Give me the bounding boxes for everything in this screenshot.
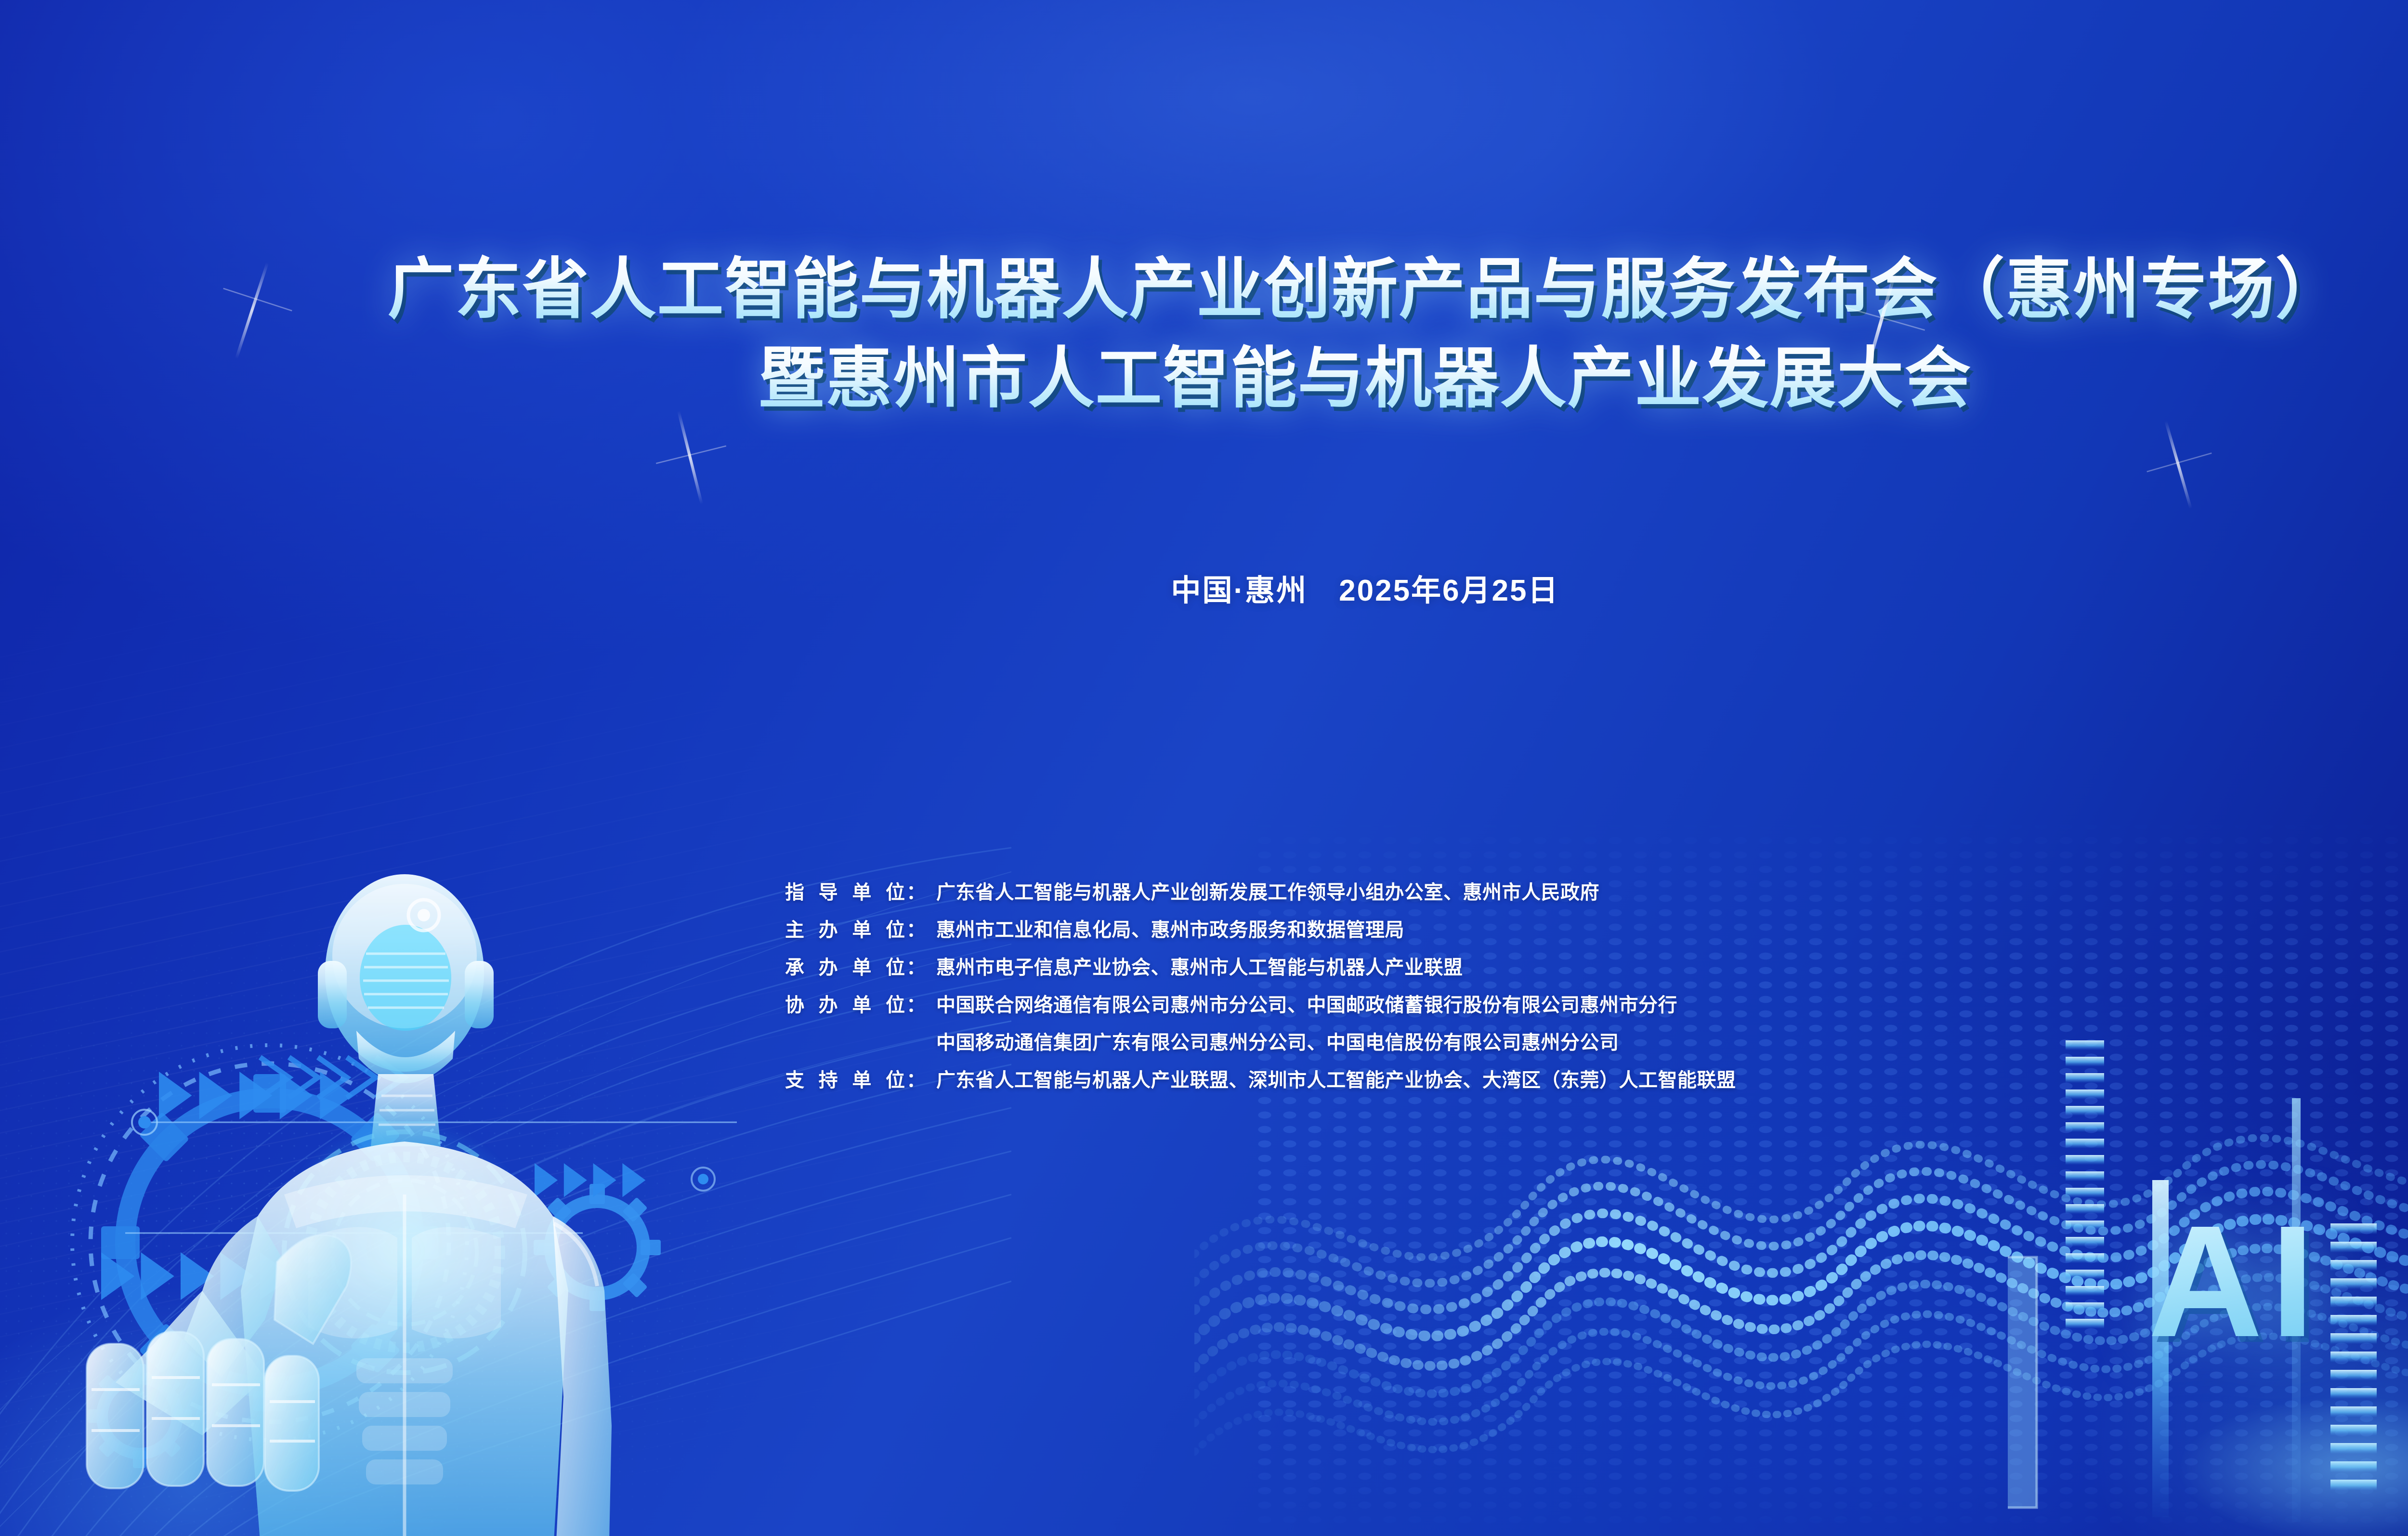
ai-logo: AI — [2148, 1190, 2322, 1373]
humanoid-robot-figure — [58, 857, 742, 1536]
organizer-row-continuation: 协办单位 ： 中国移动通信集团广东有限公司惠州分公司、中国电信股份有限公司惠州分… — [785, 1027, 2326, 1055]
organizer-value: 惠州市工业和信息化局、惠州市政务服务和数据管理局 — [936, 914, 1404, 942]
organizer-value: 中国联合网络通信有限公司惠州市分公司、中国邮政储蓄银行股份有限公司惠州市分行 — [936, 989, 1677, 1017]
organizer-label: 支持单位 — [785, 1064, 905, 1092]
organizer-label: 指导单位 — [785, 877, 905, 905]
conference-banner: AI 广东省人工智能与机器人产业创新产品与服务发布会（惠州专场） 暨惠州市人工智… — [0, 0, 2408, 1536]
page-title-line-2: 暨惠州市人工智能与机器人产业发展大会 — [0, 340, 2408, 418]
title-block: 广东省人工智能与机器人产业创新产品与服务发布会（惠州专场） 暨惠州市人工智能与机… — [0, 250, 2408, 418]
organizer-row: 主办单位 ： 惠州市工业和信息化局、惠州市政务服务和数据管理局 — [785, 914, 2326, 942]
subtitle-location-date: 中国·惠州 2025年6月25日 — [0, 566, 2408, 609]
organizer-value: 广东省人工智能与机器人产业联盟、深圳市人工智能产业协会、大湾区（东莞）人工智能联… — [936, 1064, 1736, 1092]
organizer-row: 承办单位 ： 惠州市电子信息产业协会、惠州市人工智能与机器人产业联盟 — [785, 952, 2326, 980]
organizer-row: 支持单位 ： 广东省人工智能与机器人产业联盟、深圳市人工智能产业协会、大湾区（东… — [785, 1064, 2326, 1092]
organizer-row: 协办单位 ： 中国联合网络通信有限公司惠州市分公司、中国邮政储蓄银行股份有限公司… — [785, 989, 2326, 1017]
organizer-list: 指导单位 ： 广东省人工智能与机器人产业创新发展工作领导小组办公室、惠州市人民政… — [785, 877, 2326, 1102]
organizer-label: 协办单位 — [785, 989, 905, 1017]
organizer-row: 指导单位 ： 广东省人工智能与机器人产业创新发展工作领导小组办公室、惠州市人民政… — [785, 877, 2326, 905]
organizer-colon: ： — [906, 952, 926, 980]
organizer-label: 承办单位 — [785, 952, 905, 980]
organizer-colon: ： — [906, 1064, 926, 1092]
sparkle-icon — [2129, 419, 2235, 525]
organizer-label: 主办单位 — [785, 914, 905, 942]
organizer-value: 惠州市电子信息产业协会、惠州市人工智能与机器人产业联盟 — [936, 952, 1463, 980]
organizer-colon: ： — [906, 914, 926, 942]
page-title-line-1: 广东省人工智能与机器人产业创新产品与服务发布会（惠州专场） — [0, 250, 2408, 329]
organizer-value: 广东省人工智能与机器人产业创新发展工作领导小组办公室、惠州市人民政府 — [936, 877, 1599, 905]
organizer-colon: ： — [906, 989, 926, 1017]
ai-logo-glow — [2109, 1368, 2408, 1536]
organizer-colon: ： — [906, 877, 926, 905]
organizer-value: 中国移动通信集团广东有限公司惠州分公司、中国电信股份有限公司惠州分公司 — [936, 1027, 1619, 1055]
